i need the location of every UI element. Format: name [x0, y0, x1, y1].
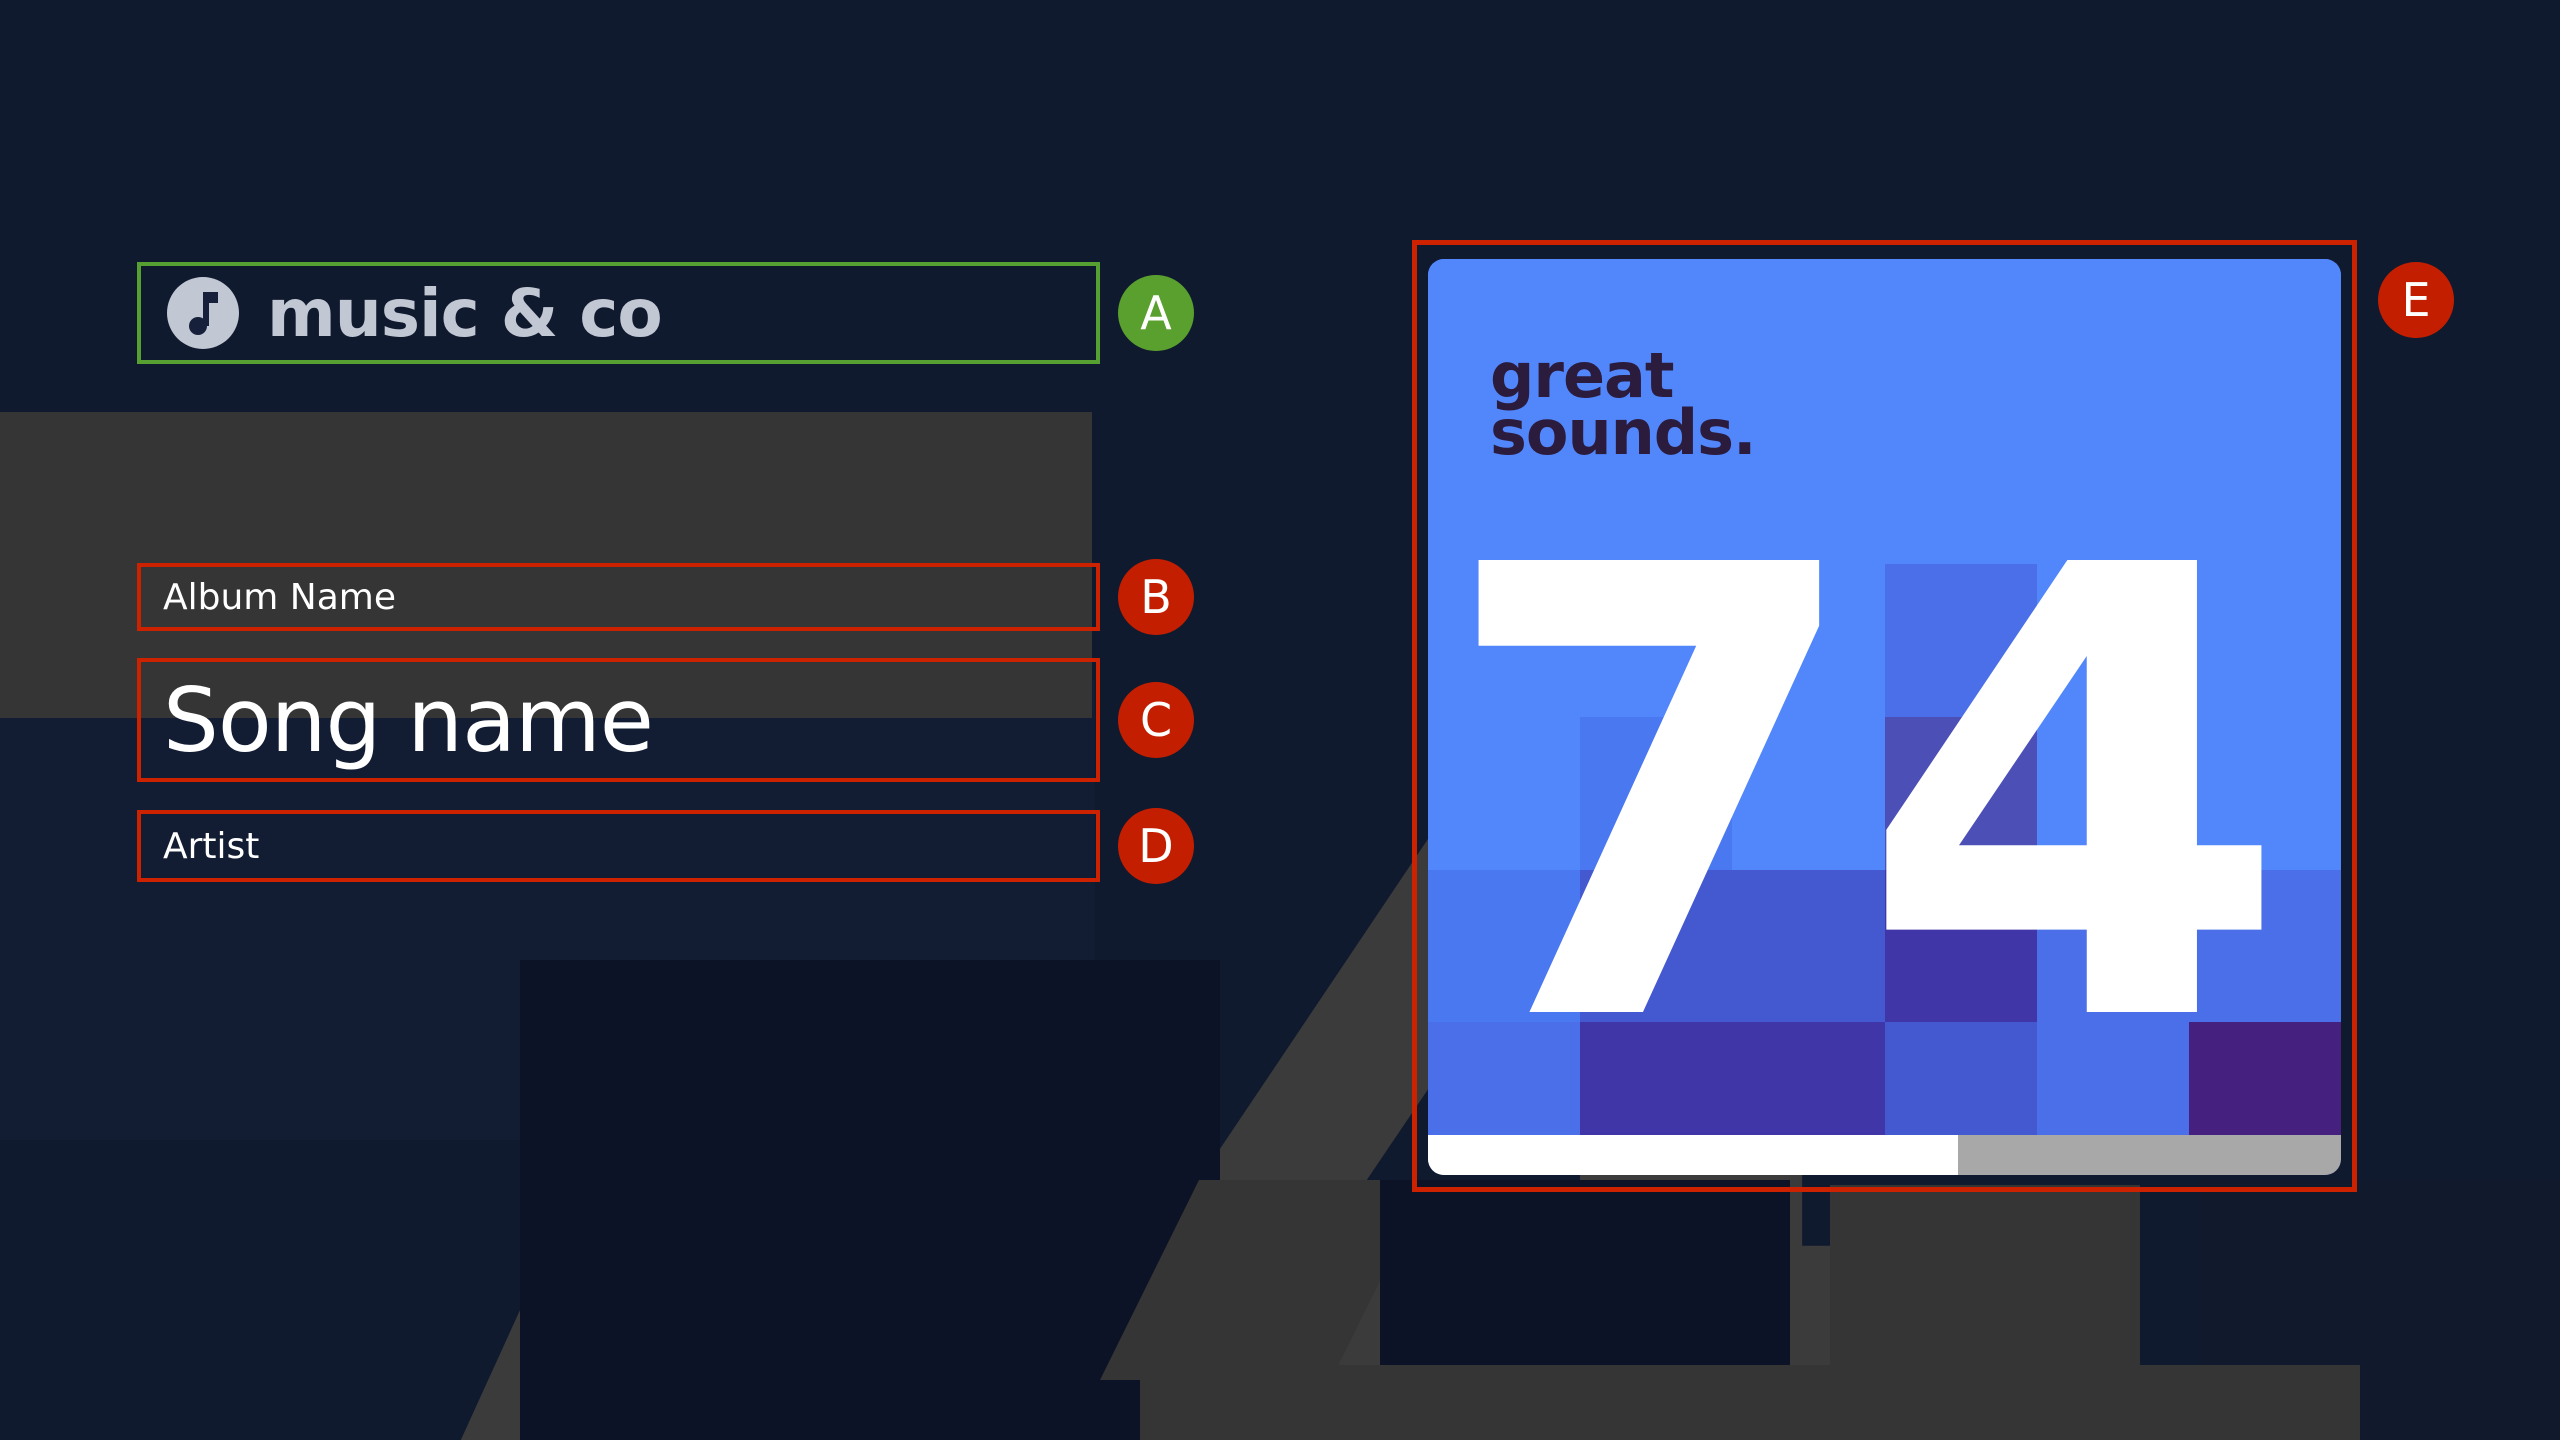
album-name-label: Album Name [163, 577, 396, 618]
album-art-number: 74 [1428, 449, 2315, 1149]
annotation-marker-d: D [1118, 808, 1194, 884]
playback-progress-fill [1428, 1135, 1958, 1175]
music-note-icon [167, 277, 239, 349]
brand-name-label: music & co [267, 275, 662, 352]
background-shape-gray-column [1830, 1185, 2140, 1385]
artist-field[interactable]: Artist [137, 810, 1100, 882]
brand-header[interactable]: music & co [137, 262, 1100, 364]
album-art-tile-5 [2189, 259, 2341, 412]
artist-name-label: Artist [163, 826, 259, 867]
playback-progress-bar[interactable] [1428, 1135, 2341, 1175]
player-screen: 74 music & co Album Name Song name Artis… [0, 0, 2560, 1440]
annotation-marker-a: A [1118, 275, 1194, 351]
song-name-label: Song name [163, 669, 653, 772]
album-art-tile-3 [1885, 259, 2037, 412]
annotation-marker-e: E [2378, 262, 2454, 338]
song-field[interactable]: Song name [137, 658, 1100, 782]
annotation-marker-c: C [1118, 682, 1194, 758]
background-shape-gray-slab [1140, 1365, 2360, 1440]
album-art-tile-4 [2037, 259, 2189, 412]
annotation-marker-b: B [1118, 559, 1194, 635]
album-field[interactable]: Album Name [137, 563, 1100, 631]
album-art[interactable]: great sounds. 74 [1428, 259, 2341, 1175]
